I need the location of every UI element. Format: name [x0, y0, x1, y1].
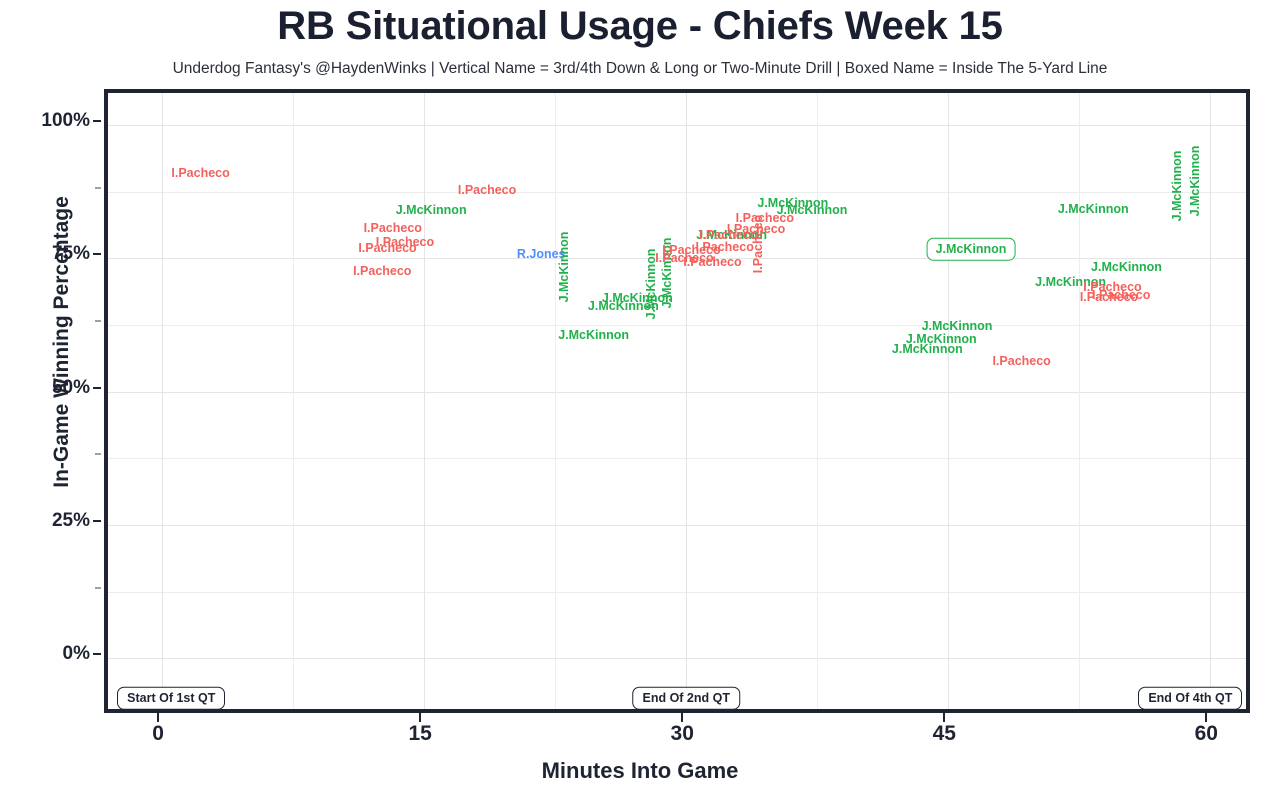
- gridline-vertical: [817, 93, 818, 709]
- x-axis-tick-label: 0: [98, 722, 218, 746]
- x-axis-tick-mark: [681, 713, 683, 722]
- x-axis-tick-label: 15: [360, 722, 480, 746]
- chart-title: RB Situational Usage - Chiefs Week 15: [0, 4, 1280, 49]
- gridline-vertical: [162, 93, 163, 709]
- plot-area: I.PachecoI.PachecoI.PachecoI.PachecoI.Pa…: [104, 89, 1250, 713]
- gridline-horizontal-minor: [108, 458, 1246, 459]
- data-point-label: I.Pacheco: [695, 240, 753, 253]
- data-point-label: I.Pacheco: [364, 222, 422, 235]
- data-point-label: J.McKinnon: [1058, 202, 1129, 215]
- y-axis-tick-mark: [93, 653, 101, 655]
- gridline-horizontal: [108, 392, 1246, 393]
- x-axis-tick-label: 45: [884, 722, 1004, 746]
- y-axis-tick-mark: [93, 387, 101, 389]
- x-axis-label: Minutes Into Game: [0, 758, 1280, 784]
- data-point-label: I.Pacheco: [353, 265, 411, 278]
- data-point-label: J.McKinnon: [558, 329, 629, 342]
- data-point-label: I.Pacheco: [1080, 291, 1138, 304]
- y-axis-tick-mark: [93, 120, 101, 122]
- data-point-label: J.McKinnon: [777, 204, 848, 217]
- gridline-vertical: [1210, 93, 1211, 709]
- quarter-annotation: End Of 2nd QT: [632, 687, 740, 710]
- chart-container: RB Situational Usage - Chiefs Week 15 Un…: [0, 0, 1280, 797]
- data-point-label: I.Pacheco: [358, 241, 416, 254]
- y-axis-tick-label: 0%: [0, 643, 90, 665]
- y-axis-tick-label: 25%: [0, 510, 90, 532]
- data-point-label: J.McKinnon: [1091, 261, 1162, 274]
- data-point-label: J.McKinnon: [396, 204, 467, 217]
- x-axis-tick-label: 30: [622, 722, 742, 746]
- x-axis-tick-mark: [1205, 713, 1207, 722]
- gridline-vertical: [424, 93, 425, 709]
- gridline-vertical: [1079, 93, 1080, 709]
- gridline-horizontal: [108, 525, 1246, 526]
- data-point-label: J.McKinnon: [1171, 151, 1184, 222]
- x-axis-tick-mark: [419, 713, 421, 722]
- y-axis-tick-mark-minor: [95, 587, 101, 589]
- data-point-label: J.McKinnon: [927, 238, 1016, 261]
- y-axis-label: In-Game Winning Percentage: [50, 42, 74, 642]
- y-axis-tick-label: 75%: [0, 243, 90, 265]
- gridline-vertical: [555, 93, 556, 709]
- y-axis-tick-mark-minor: [95, 320, 101, 322]
- chart-subtitle: Underdog Fantasy's @HaydenWinks | Vertic…: [0, 60, 1280, 78]
- gridline-horizontal-minor: [108, 192, 1246, 193]
- gridline-horizontal-minor: [108, 325, 1246, 326]
- data-point-label: J.McKinnon: [1188, 146, 1201, 217]
- x-axis-tick-mark: [943, 713, 945, 722]
- quarter-annotation: End Of 4th QT: [1138, 687, 1242, 710]
- data-point-label: I.Pacheco: [992, 355, 1050, 368]
- gridline-vertical: [686, 93, 687, 709]
- x-axis-tick-mark: [157, 713, 159, 722]
- data-point-label: I.Pacheco: [683, 256, 741, 269]
- data-point-label: J.McKinnon: [558, 232, 571, 303]
- y-axis-tick-label: 50%: [0, 377, 90, 399]
- y-axis-tick-mark: [93, 520, 101, 522]
- y-axis-tick-mark-minor: [95, 453, 101, 455]
- y-axis-tick-label: 100%: [0, 110, 90, 132]
- y-axis-tick-mark: [93, 253, 101, 255]
- gridline-vertical: [293, 93, 294, 709]
- data-point-label: J.McKinnon: [906, 333, 977, 346]
- quarter-annotation: Start Of 1st QT: [117, 687, 225, 710]
- y-axis-tick-mark-minor: [95, 187, 101, 189]
- data-point-label: J.McKinnon: [922, 319, 993, 332]
- gridline-horizontal: [108, 658, 1246, 659]
- gridline-vertical: [948, 93, 949, 709]
- x-axis-tick-label: 60: [1146, 722, 1266, 746]
- gridline-horizontal: [108, 125, 1246, 126]
- data-point-label: I.Pacheco: [171, 167, 229, 180]
- gridline-horizontal-minor: [108, 592, 1246, 593]
- data-point-label: I.Pacheco: [458, 183, 516, 196]
